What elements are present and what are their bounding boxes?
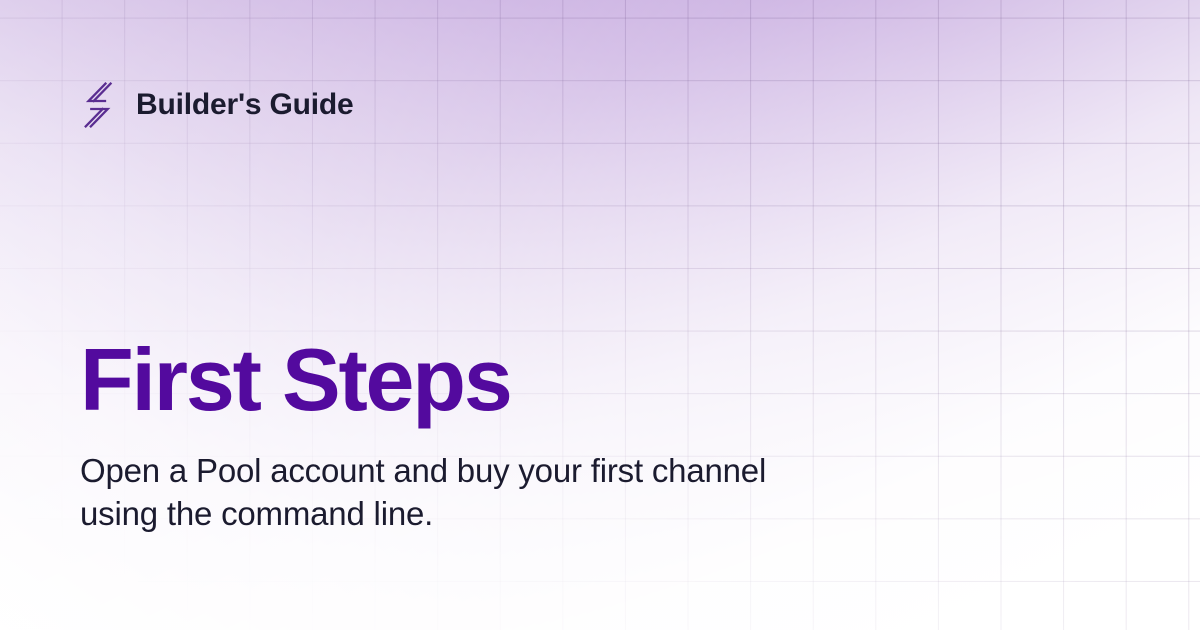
brand-name: Builder's Guide	[136, 90, 354, 120]
hero-card: Builder's Guide First Steps Open a Pool …	[0, 0, 1200, 630]
brand-lockup: Builder's Guide	[80, 78, 354, 132]
page-subtitle: Open a Pool account and buy your first c…	[80, 450, 850, 536]
hero-text-block: First Steps Open a Pool account and buy …	[80, 336, 940, 536]
page-title: First Steps	[80, 336, 940, 424]
lightning-bolt-icon	[80, 82, 116, 128]
